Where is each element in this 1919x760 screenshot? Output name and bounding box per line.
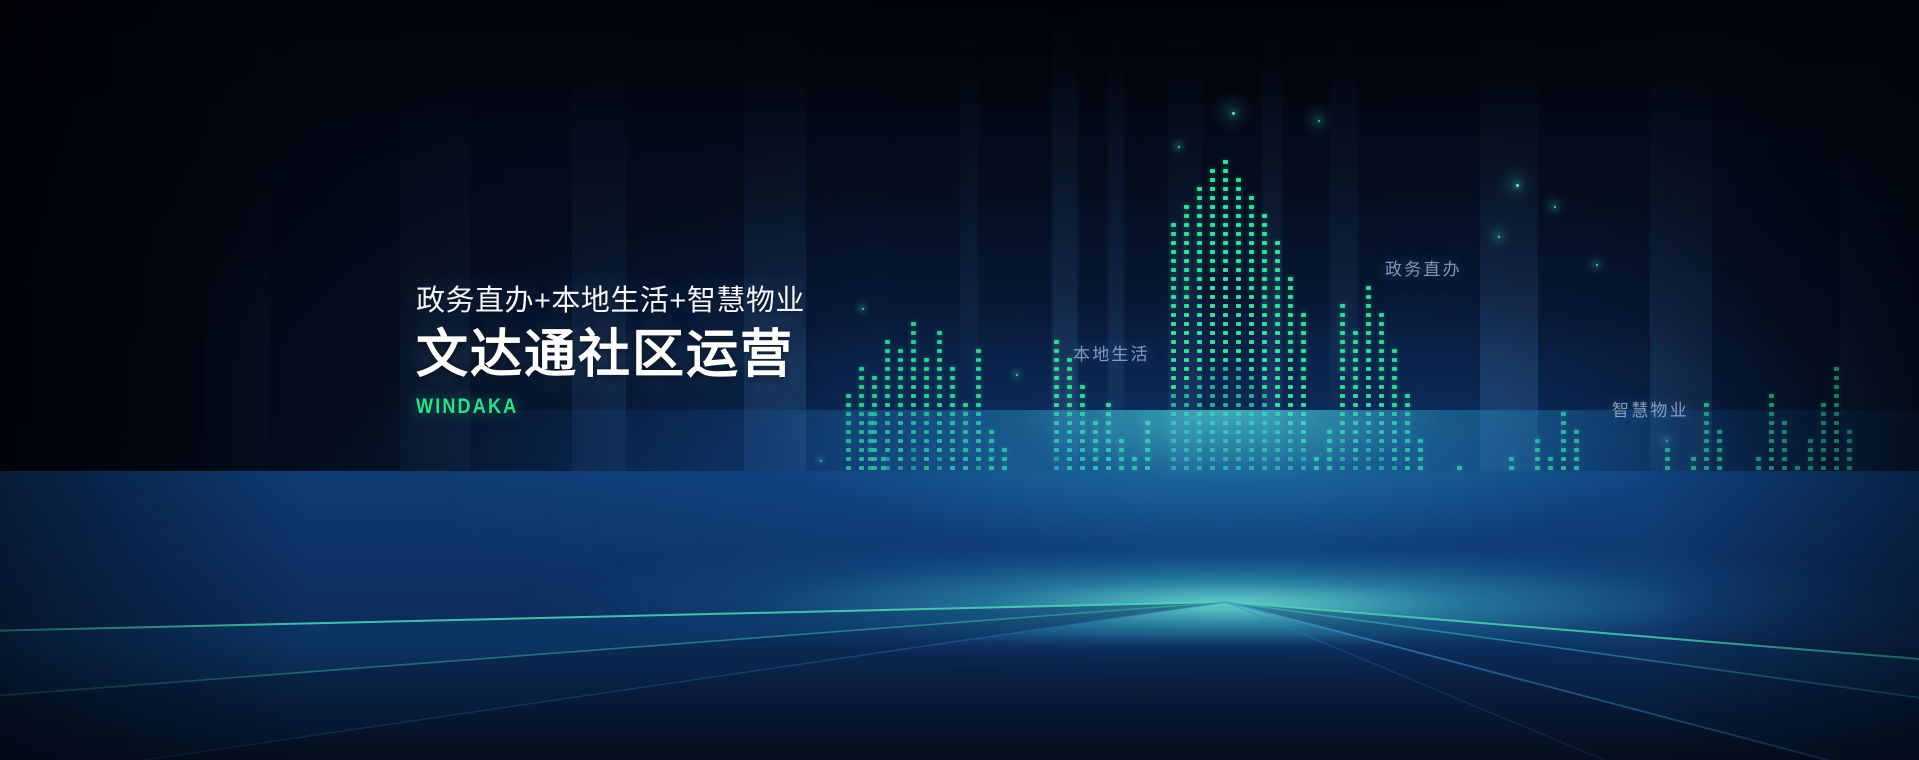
headline-block: 政务直办+本地生活+智慧物业 文达通社区运营 WINDAKA — [416, 286, 805, 419]
feature-label-2: 本地生活 — [1073, 340, 1150, 365]
promo-banner: 政务直办+本地生活+智慧物业 文达通社区运营 WINDAKA 政务直办本地生活智… — [0, 0, 1919, 760]
brand-wordmark: WINDAKA — [416, 395, 750, 419]
banner-kicker: 政务直办+本地生活+智慧物业 — [416, 286, 805, 316]
perspective-lines — [0, 0, 1919, 760]
feature-label-1: 政务直办 — [1385, 255, 1462, 280]
feature-label-3: 智慧物业 — [1612, 396, 1689, 421]
page-title: 文达通社区运营 — [416, 328, 805, 383]
